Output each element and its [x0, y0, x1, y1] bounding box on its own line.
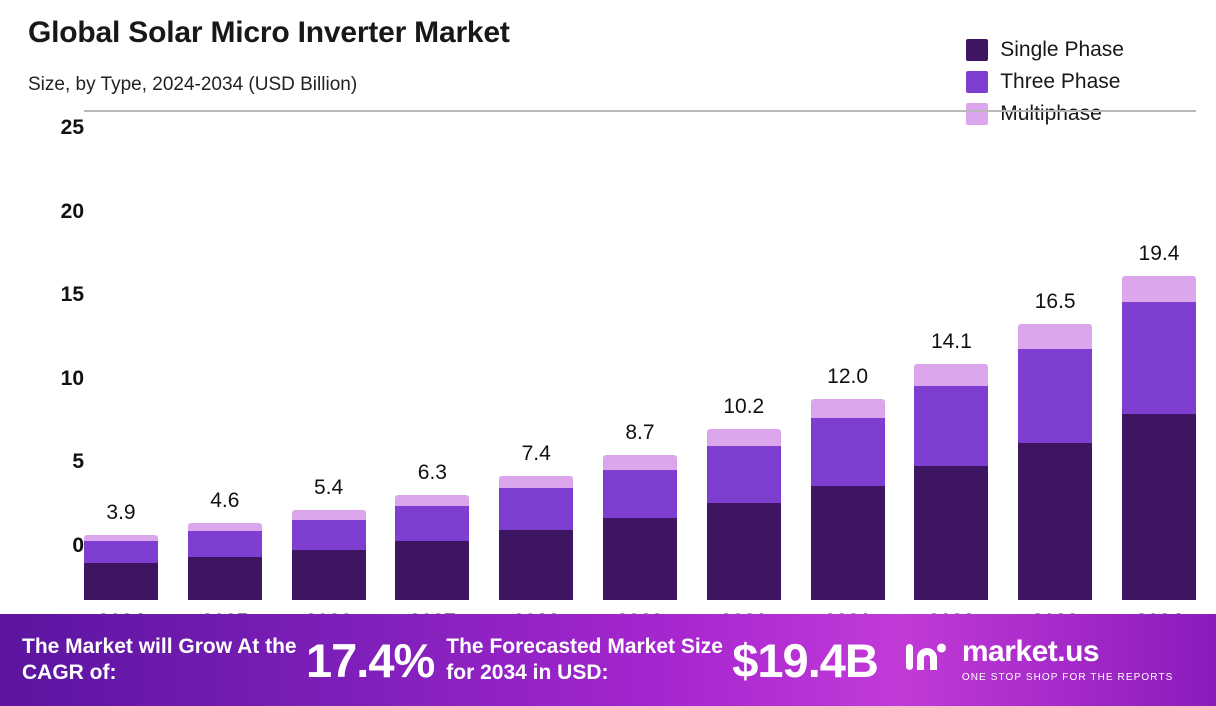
bar-segment[interactable]: [499, 530, 573, 600]
bar-segment[interactable]: [395, 541, 469, 600]
legend-item-three-phase: Three Phase: [966, 70, 1124, 94]
bar-segment[interactable]: [914, 386, 988, 466]
bar-stack: [188, 523, 262, 600]
bar-stack: [603, 455, 677, 600]
bar-segment[interactable]: [811, 486, 885, 600]
chart-page: Global Solar Micro Inverter Market Size,…: [0, 0, 1216, 706]
bar-group[interactable]: 7.4: [499, 476, 573, 600]
bar-series-container: 3.94.65.46.37.48.710.212.014.116.519.4: [84, 164, 1196, 600]
bar-total-label: 4.6: [210, 489, 239, 513]
bar-segment[interactable]: [292, 510, 366, 520]
bar-group[interactable]: 12.0: [811, 399, 885, 600]
bar-stack: [811, 399, 885, 600]
legend-label-single-phase: Single Phase: [1000, 38, 1124, 62]
legend-item-single-phase: Single Phase: [966, 38, 1124, 62]
bar-stack: [707, 429, 781, 600]
brand-logo: market.us ONE STOP SHOP FOR THE REPORTS: [904, 637, 1174, 683]
bar-segment[interactable]: [914, 364, 988, 386]
footer-size-value: $19.4B: [732, 633, 878, 688]
bar-segment[interactable]: [603, 470, 677, 518]
bar-segment[interactable]: [188, 523, 262, 531]
bar-total-label: 19.4: [1139, 242, 1180, 266]
bar-group[interactable]: 8.7: [603, 455, 677, 600]
bar-segment[interactable]: [499, 476, 573, 488]
bar-total-label: 7.4: [522, 442, 551, 466]
footer-banner: The Market will Grow At the CAGR of: 17.…: [0, 614, 1216, 706]
bar-total-label: 12.0: [827, 365, 868, 389]
y-axis-tick: 15: [24, 283, 84, 307]
bar-group[interactable]: 5.4: [292, 510, 366, 600]
bar-total-label: 5.4: [314, 476, 343, 500]
brand-tagline: ONE STOP SHOP FOR THE REPORTS: [962, 672, 1174, 683]
bar-group[interactable]: 4.6: [188, 523, 262, 600]
bar-segment[interactable]: [395, 495, 469, 507]
bar-total-label: 6.3: [418, 461, 447, 485]
bar-total-label: 14.1: [931, 330, 972, 354]
bar-segment[interactable]: [914, 466, 988, 600]
bar-stack: [292, 510, 366, 600]
page-title: Global Solar Micro Inverter Market: [28, 16, 510, 50]
bar-group[interactable]: 3.9: [84, 535, 158, 600]
bar-segment[interactable]: [707, 446, 781, 503]
legend-swatch-single-phase: [966, 39, 988, 61]
bar-group[interactable]: 16.5: [1018, 324, 1092, 600]
bar-segment[interactable]: [292, 520, 366, 550]
bar-group[interactable]: 19.4: [1122, 276, 1196, 600]
plot-area: 0510152025 3.94.65.46.37.48.710.212.014.…: [0, 110, 1216, 600]
bar-segment[interactable]: [811, 399, 885, 417]
bar-segment[interactable]: [603, 518, 677, 600]
bar-stack: [395, 495, 469, 600]
bar-group[interactable]: 6.3: [395, 495, 469, 600]
bar-segment[interactable]: [1122, 276, 1196, 303]
bar-total-label: 8.7: [625, 421, 654, 445]
bar-segment[interactable]: [188, 557, 262, 600]
bar-segment[interactable]: [1018, 324, 1092, 349]
bar-total-label: 10.2: [723, 395, 764, 419]
bar-segment[interactable]: [707, 503, 781, 600]
brand-text: market.us ONE STOP SHOP FOR THE REPORTS: [962, 637, 1174, 683]
bar-segment[interactable]: [84, 535, 158, 542]
bar-segment[interactable]: [1018, 349, 1092, 443]
x-axis-line: [84, 110, 1196, 112]
footer-size-label: The Forecasted Market Size for 2034 in U…: [446, 634, 726, 687]
bar-stack: [914, 364, 988, 600]
bar-segment[interactable]: [1122, 302, 1196, 414]
bar-segment[interactable]: [84, 541, 158, 563]
y-axis-tick: 5: [24, 450, 84, 474]
bar-total-label: 3.9: [106, 501, 135, 525]
bar-segment[interactable]: [499, 488, 573, 530]
bar-segment[interactable]: [84, 563, 158, 600]
bar-group[interactable]: 10.2: [707, 429, 781, 600]
legend-swatch-three-phase: [966, 71, 988, 93]
bar-group[interactable]: 14.1: [914, 364, 988, 600]
bar-segment[interactable]: [292, 550, 366, 600]
bar-stack: [499, 476, 573, 600]
footer-cagr-value: 17.4%: [306, 633, 434, 688]
bar-segment[interactable]: [811, 418, 885, 487]
bar-segment[interactable]: [707, 429, 781, 446]
bar-total-label: 16.5: [1035, 290, 1076, 314]
y-axis-tick: 25: [24, 116, 84, 140]
brand-name: market.us: [962, 637, 1174, 667]
market-us-logo-icon: [904, 640, 950, 680]
bar-segment[interactable]: [1122, 414, 1196, 600]
bar-segment[interactable]: [1018, 443, 1092, 600]
bar-stack: [84, 535, 158, 600]
y-axis-tick: 20: [24, 200, 84, 224]
bar-stack: [1122, 276, 1196, 600]
y-axis-tick: 0: [24, 534, 84, 558]
bar-segment[interactable]: [188, 531, 262, 556]
footer-cagr-label: The Market will Grow At the CAGR of:: [22, 634, 302, 687]
legend-label-three-phase: Three Phase: [1000, 70, 1120, 94]
y-axis-tick: 10: [24, 367, 84, 391]
page-subtitle: Size, by Type, 2024-2034 (USD Billion): [28, 74, 357, 96]
bar-stack: [1018, 324, 1092, 600]
bar-segment[interactable]: [395, 506, 469, 541]
bar-segment[interactable]: [603, 455, 677, 470]
